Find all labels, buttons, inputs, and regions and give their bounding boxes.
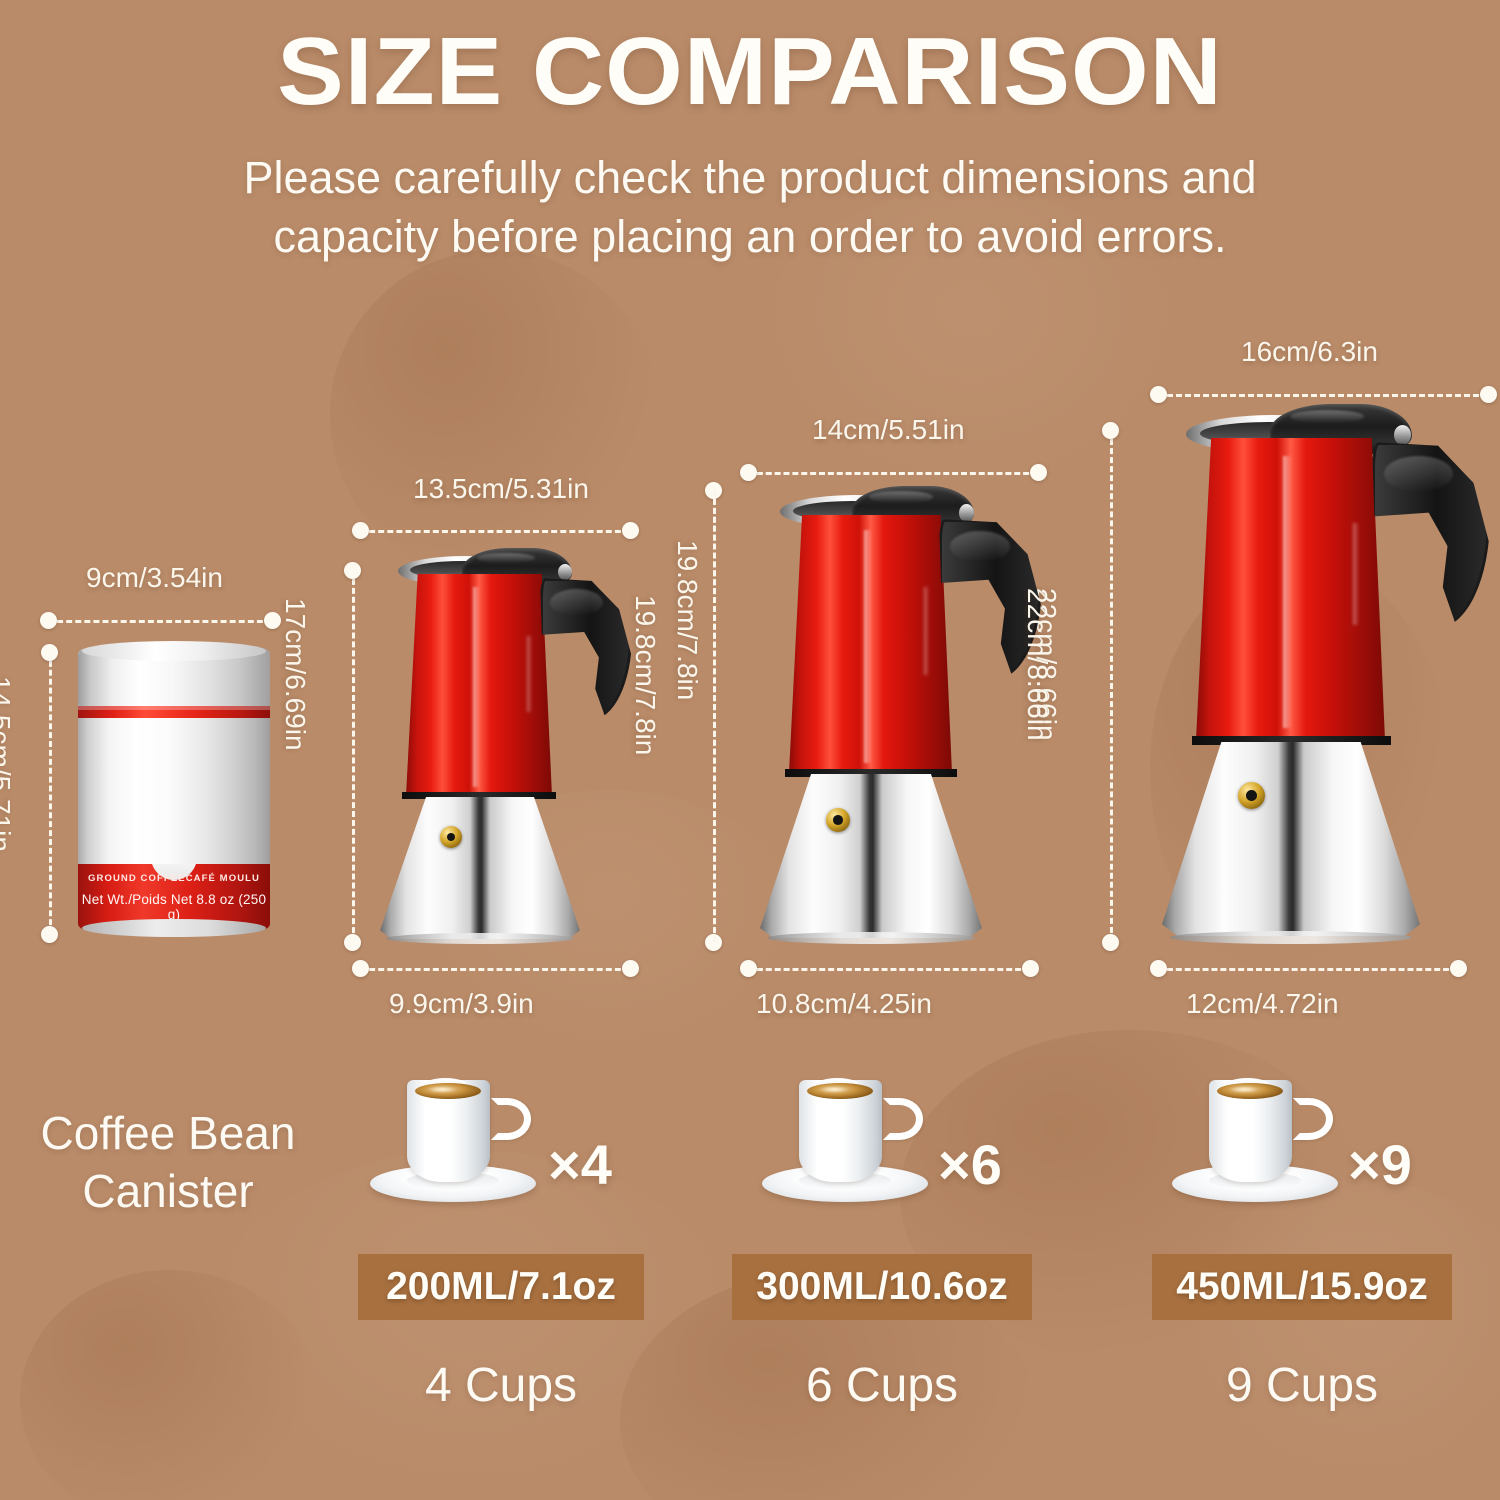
product-2-top-width-label: 14cm/5.51in [812,414,965,446]
canister-net-weight: Net Wt./Poids Net 8.8 oz (250 g) [78,892,270,922]
pot-handle [1372,442,1490,628]
subtitle-line-1: Please carefully check the product dimen… [0,148,1500,207]
pot-lid-hinge [959,504,974,522]
cup-handle [1293,1098,1333,1140]
product-1-base-width-label: 9.9cm/3.9in [389,988,534,1020]
canister-body: GROUND COFFEE CAFÉ MOULU Net Wt./Poids N… [78,648,270,930]
product-1-right-height-label: 19.8cm/7.8in [629,595,661,755]
moka-pot-9-cups [1144,404,1490,942]
canister-bottom-ellipse [82,919,266,937]
product-2-base-width-line [748,968,1030,971]
pot-base-foot [767,932,975,944]
espresso-cup-6 [762,1078,928,1202]
canister-caption-line-1: Coffee Bean [18,1105,318,1163]
canister-red-band [78,706,270,718]
cup-handle [491,1098,531,1140]
espresso-cup-9 [1172,1078,1338,1202]
capacity-badge-4-cups: 200ML/7.1oz [358,1254,644,1320]
dimension-cap [41,926,58,943]
pot-base-foot [1170,931,1412,944]
pot-red-highlight-secondary [924,587,929,675]
pot-red-highlight-secondary [527,636,531,711]
product-3-base-width-label: 12cm/4.72in [1186,988,1339,1020]
dimension-cap [1022,960,1039,977]
dimension-cap [1102,934,1119,951]
product-2-base-width-label: 10.8cm/4.25in [756,988,932,1020]
coffee-crema [807,1083,873,1099]
pot-red-chamber [1196,438,1385,740]
pot-lid-highlight [477,553,534,563]
product-3-base-width-line [1158,968,1458,971]
page-title: SIZE COMPARISON [0,0,1500,120]
coffee-crema [415,1083,481,1099]
coffee-crema [1217,1083,1283,1099]
canister-width-line [48,620,272,623]
canister-lid-top-ellipse [82,641,266,661]
canister-caption-line-2: Canister [18,1163,318,1221]
pot-red-highlight [864,530,872,762]
pot-red-chamber [789,515,952,773]
moka-pot-6-cups [742,486,1042,942]
product-3-top-width-label: 16cm/6.3in [1241,336,1378,368]
dimension-cap [1480,386,1497,403]
canister-label-right-text: CAFÉ MOULU [186,873,260,884]
pot-handle [540,578,632,720]
pot-base-foot [386,933,574,944]
pot-chrome-base [1162,742,1420,936]
dimension-cap [352,960,369,977]
dimension-cap [1150,960,1167,977]
dimension-cap [1030,464,1047,481]
cups-label-4: 4 Cups [351,1358,651,1413]
pot-handle-highlight [950,531,1010,562]
dimension-cap [40,612,57,629]
header: SIZE COMPARISON Please carefully check t… [0,0,1500,267]
pot-red-highlight-secondary [1353,523,1359,626]
pot-red-highlight [1283,456,1292,728]
pot-safety-valve [440,826,462,848]
pot-safety-valve [826,808,850,832]
canister-label-top-row: GROUND COFFEE CAFÉ MOULU [78,873,270,884]
product-2-left-height-line [713,490,716,942]
pot-handle-highlight [550,589,603,616]
capacity-badge-9-cups: 450ML/15.9oz [1152,1254,1452,1320]
dimension-cap [344,934,361,951]
dimension-cap [344,562,361,579]
pot-safety-valve [1238,782,1265,809]
pot-lid-hinge [558,564,572,580]
dimension-cap [1102,422,1119,439]
capacity-badge-6-cups: 300ML/10.6oz [732,1254,1032,1320]
product-1-base-width-line [360,968,630,971]
product-2-top-width-line [748,472,1038,475]
coffee-bean-canister: GROUND COFFEE CAFÉ MOULU Net Wt./Poids N… [78,648,270,930]
dimension-cap [1450,960,1467,977]
pot-chrome-base [380,797,580,939]
cups-label-6: 6 Cups [732,1358,1032,1413]
pot-lid-hinge [1394,425,1411,445]
pot-red-highlight [473,587,480,787]
pot-lid-highlight [1290,410,1364,423]
product-2-left-height-label: 19.8cm/7.8in [671,540,703,700]
pot-handle-highlight [1384,456,1453,492]
pot-lid-highlight [869,491,932,502]
product-1-left-height-label: 17cm/6.69in [279,598,311,751]
pot-red-chamber [406,574,552,796]
cup-handle [883,1098,923,1140]
dimension-cap [622,960,639,977]
cups-label-9: 9 Cups [1152,1358,1452,1413]
product-3-top-width-line [1158,394,1488,397]
cup-multiplier-6: ×6 [938,1132,1002,1197]
dimension-cap [740,464,757,481]
cup-multiplier-4: ×4 [548,1132,612,1197]
subtitle-line-2: capacity before placing an order to avoi… [0,207,1500,266]
product-1-top-width-label: 13.5cm/5.31in [413,473,589,505]
pot-chrome-base [760,774,982,938]
dimension-cap [41,644,58,661]
dimension-cap [622,522,639,539]
page-subtitle: Please carefully check the product dimen… [0,120,1500,267]
product-1-left-height-line [352,570,355,942]
moka-pot-4-cups [362,548,630,942]
canister-height-label: 14.5cm/5.71in [0,676,16,852]
product-1-top-width-line [360,530,630,533]
dimension-cap [740,960,757,977]
dimension-cap [352,522,369,539]
canister-width-label: 9cm/3.54in [86,562,223,594]
product-2-right-height-line [1110,430,1113,942]
canister-height-line [49,652,52,934]
espresso-cup-4 [370,1078,536,1202]
cup-multiplier-9: ×9 [1348,1132,1412,1197]
canister-caption: Coffee Bean Canister [18,1105,318,1221]
dimension-cap [1150,386,1167,403]
canister-label-left-text: GROUND COFFEE [88,873,186,884]
product-3-left-height-label: 22cm/8.66in [1021,588,1053,741]
